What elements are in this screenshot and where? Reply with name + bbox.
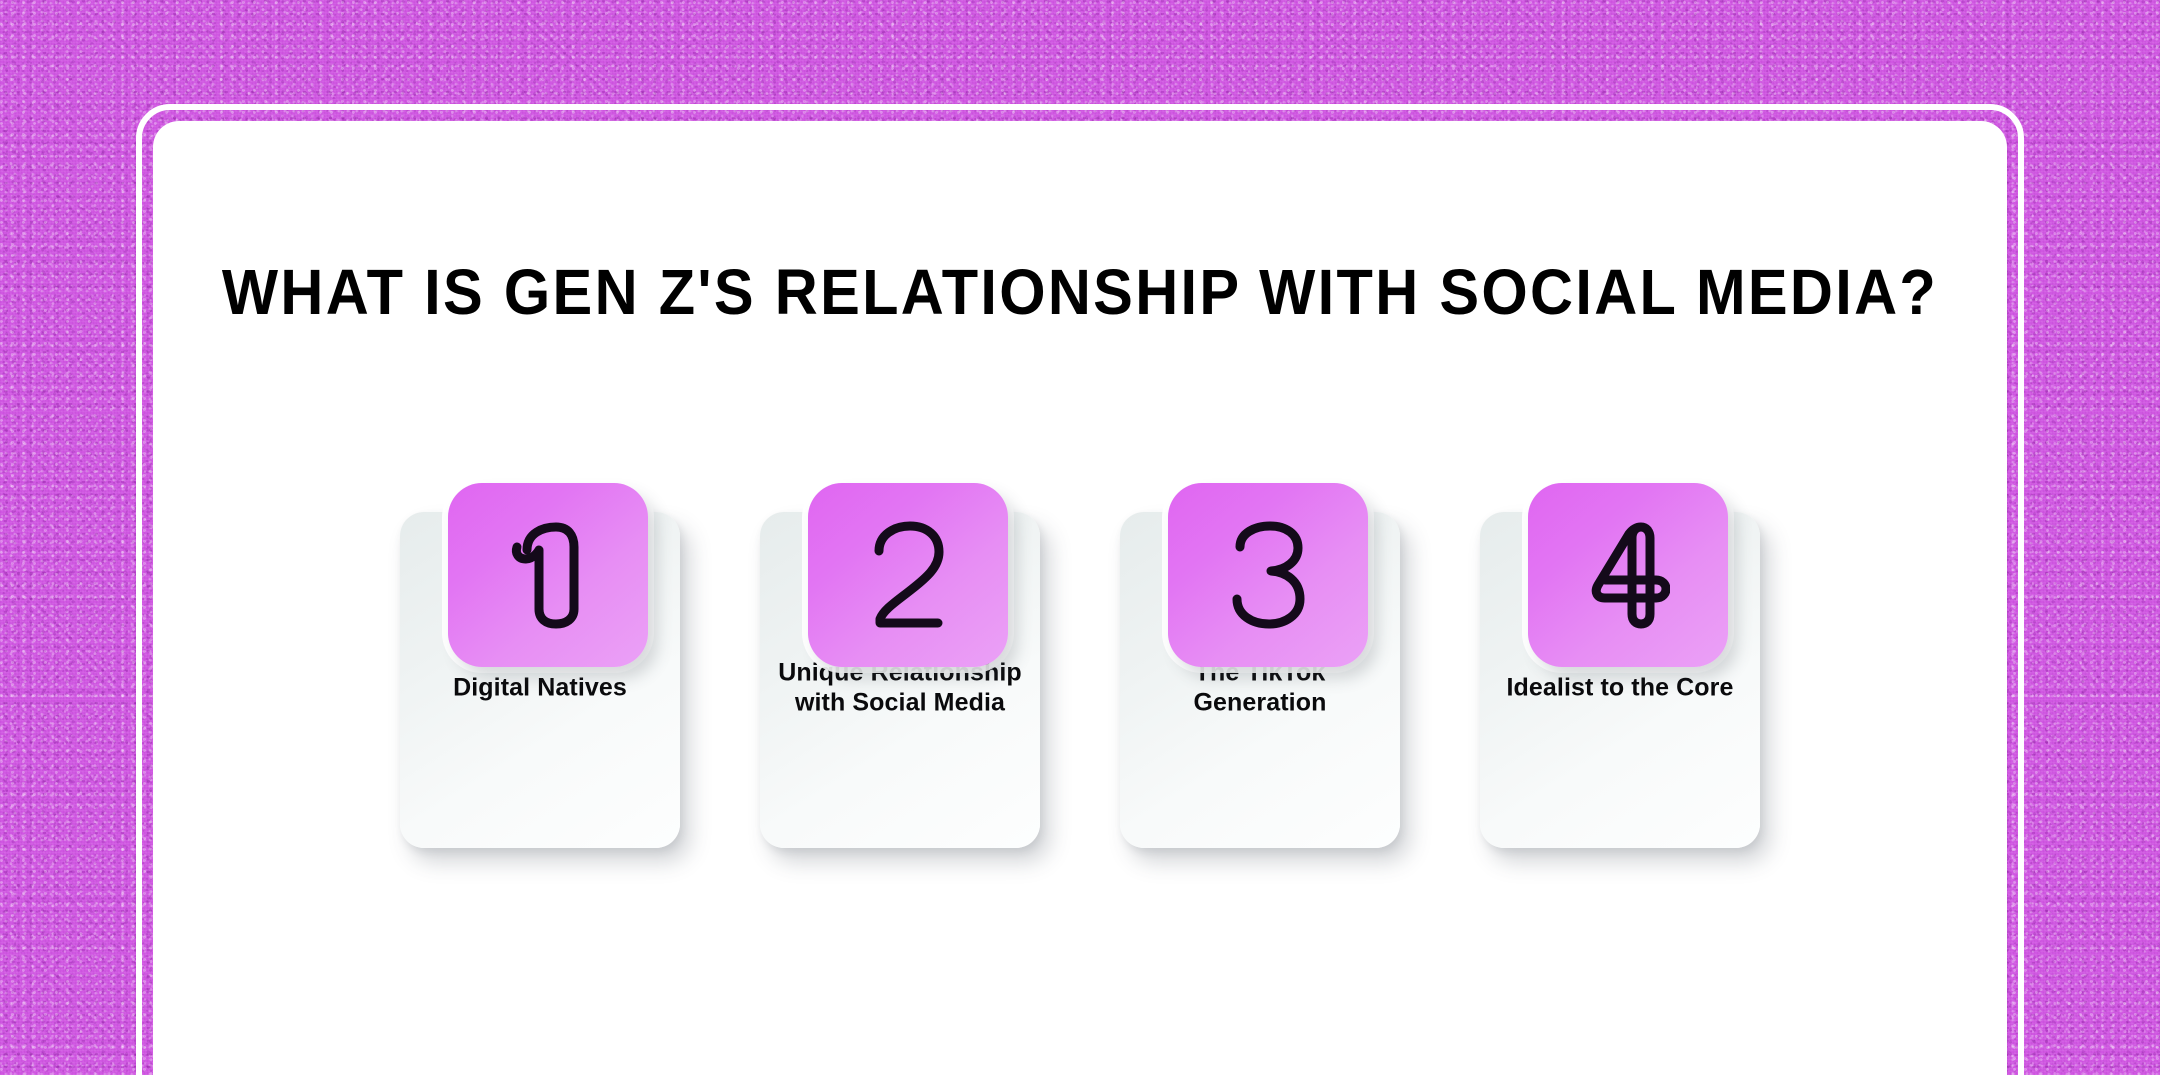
card-1-label: Digital Natives — [414, 673, 666, 703]
card-1[interactable]: Digital Natives — [400, 483, 680, 848]
card-4-badge — [1528, 483, 1728, 667]
card-4[interactable]: Idealist to the Core — [1480, 483, 1760, 848]
card-2-label: Unique Relationship with Social Media — [774, 659, 1026, 718]
card-2[interactable]: Unique Relationship with Social Media — [760, 483, 1040, 848]
numeral-three-outline-icon — [1226, 519, 1310, 631]
card-1-badge — [448, 483, 648, 667]
card-3-label: The TikTok Generation — [1134, 659, 1386, 718]
card-3[interactable]: The TikTok Generation — [1120, 483, 1400, 848]
numeral-one-outline-icon — [506, 519, 590, 631]
card-3-badge — [1168, 483, 1368, 667]
card-4-label: Idealist to the Core — [1494, 673, 1746, 703]
card-2-badge — [808, 483, 1008, 667]
numeral-four-outline-icon — [1586, 519, 1670, 631]
numeral-two-outline-icon — [866, 519, 950, 631]
card-row: Digital Natives Unique Relationship with… — [153, 483, 2007, 848]
page-title: WHAT IS GEN Z'S RELATIONSHIP WITH SOCIAL… — [218, 260, 1942, 324]
content-panel: WHAT IS GEN Z'S RELATIONSHIP WITH SOCIAL… — [153, 121, 2007, 1075]
